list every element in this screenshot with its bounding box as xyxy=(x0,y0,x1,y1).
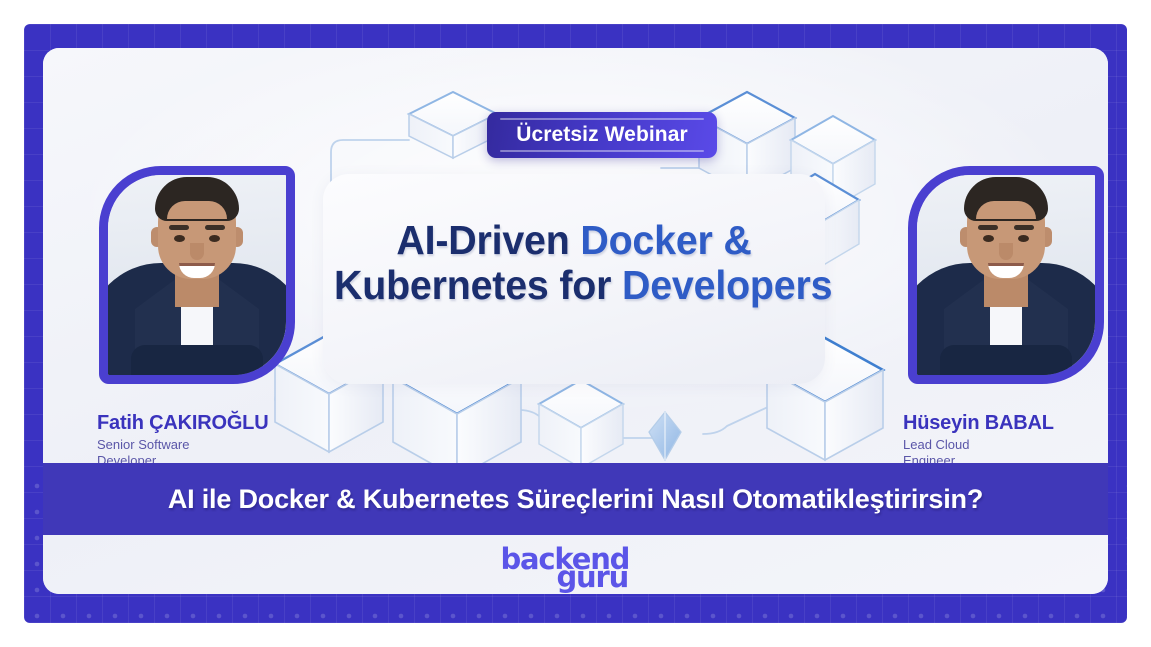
main-content-card: Ücretsiz Webinar AI-Driven Docker & Kube… xyxy=(43,48,1108,594)
speaker-name-left: Fatih ÇAKIROĞLU xyxy=(97,412,268,435)
speaker-portrait-right xyxy=(917,175,1095,375)
title-line-1-dark: AI-Driven xyxy=(396,217,580,263)
speaker-info-right: Hüseyin BABAL Lead Cloud Engineer xyxy=(903,412,1054,470)
title-line-2-dark: Kubernetes for xyxy=(334,262,622,308)
title-line-1-light: Docker & xyxy=(580,217,751,263)
speaker-name-right: Hüseyin BABAL xyxy=(903,412,1054,435)
speaker-photo-frame-right xyxy=(908,166,1104,384)
title-line-2: Kubernetes for Developers xyxy=(334,263,814,308)
speaker-photo-frame-left xyxy=(99,166,295,384)
speaker-role-left-line1: Senior Software xyxy=(97,437,268,453)
free-webinar-badge-label: Ücretsiz Webinar xyxy=(516,123,688,147)
free-webinar-badge: Ücretsiz Webinar xyxy=(487,112,717,158)
brand-logo: backend guru xyxy=(43,535,1108,594)
poster-outer-frame: Ücretsiz Webinar AI-Driven Docker & Kube… xyxy=(24,24,1127,623)
speaker-role-right-line1: Lead Cloud xyxy=(903,437,1054,453)
logo-word-guru: guru xyxy=(557,560,629,594)
headline-text: AI ile Docker & Kubernetes Süreçlerini N… xyxy=(168,484,983,515)
title-line-2-light: Developers xyxy=(622,262,832,308)
webinar-title: AI-Driven Docker & Kubernetes for Develo… xyxy=(324,218,824,308)
title-line-1: AI-Driven Docker & xyxy=(334,218,814,263)
headline-banner: AI ile Docker & Kubernetes Süreçlerini N… xyxy=(43,463,1108,535)
speaker-portrait-left xyxy=(108,175,286,375)
speaker-info-left: Fatih ÇAKIROĞLU Senior Software Develope… xyxy=(97,412,268,470)
